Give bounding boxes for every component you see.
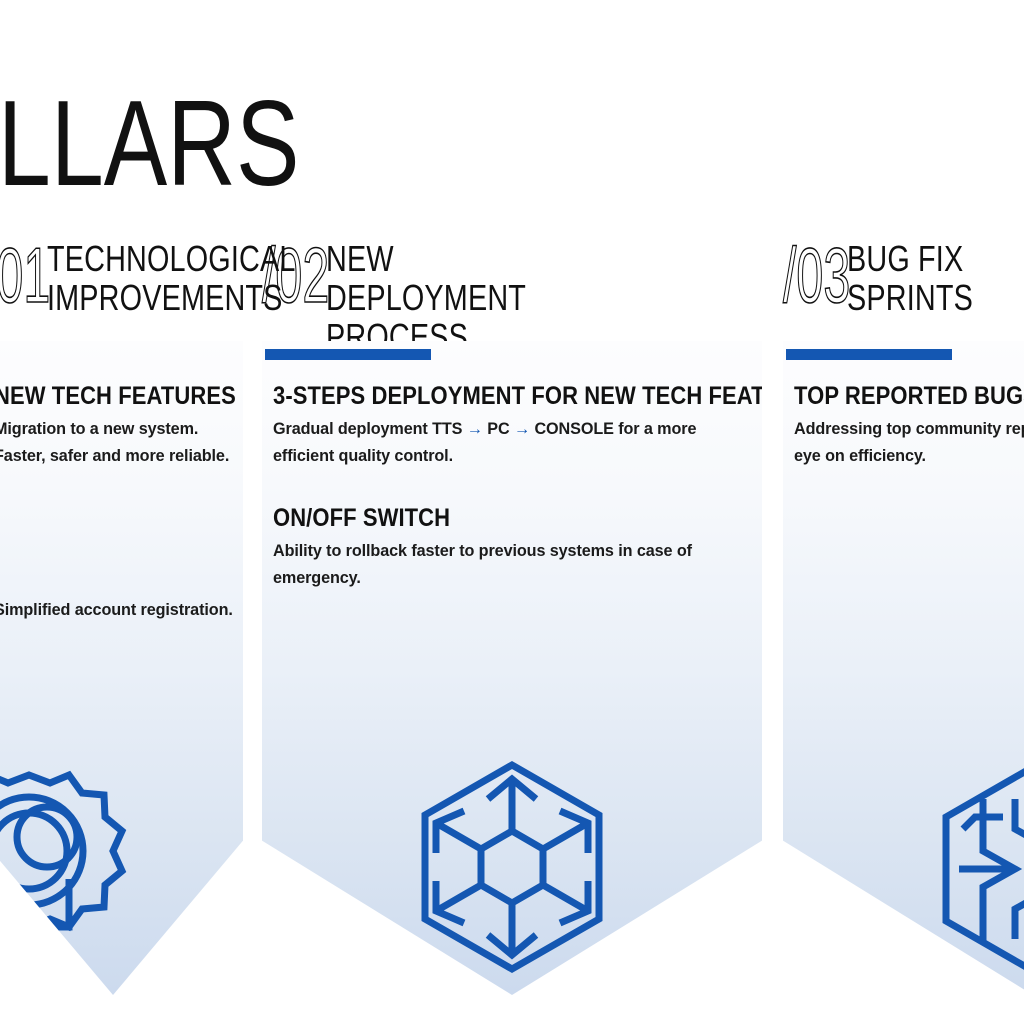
pillar-header-1: /01 TECHNOLOGICAL IMPROVEMENTS	[0, 236, 245, 336]
block-heading: 3-STEPS DEPLOYMENT FOR NEW TECH FEATURES	[273, 383, 685, 409]
pillar-column-3: /03 BUG FIX SPRINTS TOP REPORTED BUGS BY…	[783, 0, 1024, 1024]
block-spacer	[0, 501, 244, 597]
pillar-body-1: NEW TECH FEATURES Migration to a new sys…	[0, 383, 244, 624]
pillar-card-3: TOP REPORTED BUGS BY COMMUNITY Addressin…	[783, 341, 1024, 995]
pillar-body-3: TOP REPORTED BUGS BY COMMUNITY Addressin…	[794, 383, 1024, 471]
pillar-card-2: 3-STEPS DEPLOYMENT FOR NEW TECH FEATURES…	[262, 341, 762, 995]
block-text: Gradual deployment TTS → PC → CONSOLE fo…	[273, 416, 741, 470]
circuit-hexagon-icon	[923, 759, 1024, 979]
block-text: Migration to a new system. Faster, safer…	[0, 416, 244, 470]
accent-bar-3	[786, 349, 952, 360]
block-text: Ability to rollback faster to previous s…	[273, 538, 741, 592]
content-block: TOP REPORTED BUGS BY COMMUNITY Addressin…	[794, 383, 1024, 471]
hexagon-cube-arrows-icon	[402, 757, 622, 977]
block-text-line: Faster, safer and more reliable.	[0, 447, 229, 465]
infographic-slide: PILLARS /01 TECHNOLOGICAL IMPROVEMENTS N…	[0, 0, 1024, 1024]
block-heading: NEW TECH FEATURES	[0, 383, 214, 409]
pillar-title-2: NEW DEPLOYMENT PROCESS	[326, 236, 526, 357]
gear-cog-icon	[0, 759, 139, 979]
content-block: NEW TECH FEATURES Migration to a new sys…	[0, 383, 244, 471]
pillar-header-3: /03 BUG FIX SPRINTS	[783, 236, 1024, 336]
block-heading: ON/OFF SWITCH	[273, 505, 685, 531]
pillar-column-1: /01 TECHNOLOGICAL IMPROVEMENTS NEW TECH …	[0, 0, 243, 1024]
accent-bar-2	[265, 349, 431, 360]
pillar-number-1: /01	[0, 236, 50, 312]
block-text-prefix: Gradual deployment TTS	[273, 420, 467, 438]
arrow-right-icon: →	[467, 420, 483, 438]
block-text: Simplified account registration.	[0, 597, 244, 624]
pillar-card-1: NEW TECH FEATURES Migration to a new sys…	[0, 341, 243, 995]
pillar-title-1: TECHNOLOGICAL IMPROVEMENTS	[47, 236, 296, 318]
pillar-header-2: /02 NEW DEPLOYMENT PROCESS	[262, 236, 524, 336]
content-block: 3-STEPS DEPLOYMENT FOR NEW TECH FEATURES…	[273, 383, 741, 471]
pillar-body-2: 3-STEPS DEPLOYMENT FOR NEW TECH FEATURES…	[273, 383, 741, 592]
pillar-column-2: /02 NEW DEPLOYMENT PROCESS 3-STEPS DEPLO…	[262, 0, 522, 1024]
content-block: ON/OFF SWITCH Ability to rollback faster…	[273, 505, 741, 593]
block-heading: TOP REPORTED BUGS BY COMMUNITY	[794, 383, 1024, 409]
pillar-title-3: BUG FIX SPRINTS	[847, 236, 973, 318]
block-text: Addressing top community reported bugs w…	[794, 416, 1024, 470]
block-text-mid: PC	[483, 420, 514, 438]
arrow-right-icon: →	[514, 420, 530, 438]
pillar-number-3: /03	[783, 236, 850, 312]
pillar-number-2: /02	[262, 236, 329, 312]
block-text-line: Migration to a new system.	[0, 420, 198, 438]
content-block: Simplified account registration.	[0, 597, 244, 624]
